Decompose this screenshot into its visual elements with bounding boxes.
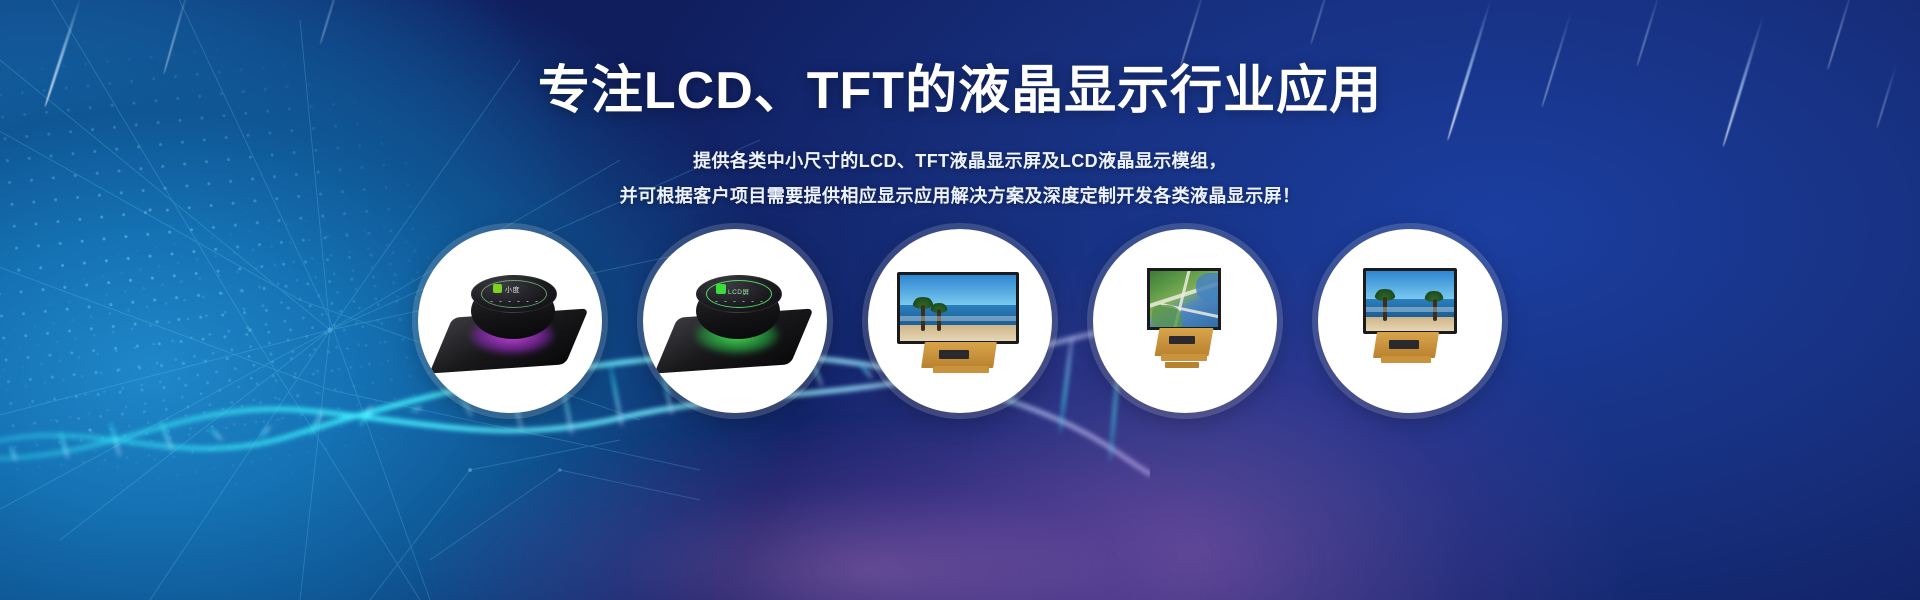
product-circle-tft-display-beach[interactable] (1318, 229, 1502, 413)
meteor-streak-4 (1179, 0, 1207, 68)
product-showcase-row: 小度 LCD屏 (0, 228, 1920, 414)
smart-speaker-green-image: LCD屏 (660, 261, 810, 381)
tft-display-beach-image (1347, 262, 1473, 380)
tft-display-wide-image (889, 262, 1031, 380)
meteor-streak-3 (319, 0, 343, 45)
smart-speaker-purple-image: 小度 (435, 261, 585, 381)
product-circle-smart-speaker-green[interactable]: LCD屏 (643, 229, 827, 413)
product-circle-tft-display-wide[interactable] (868, 229, 1052, 413)
subtitle-line-2: 并可根据客户项目需要提供相应显示应用解决方案及深度定制开发各类液晶显示屏！ (0, 179, 1920, 214)
meteor-streak-10 (1827, 0, 1856, 70)
product-circle-tft-display-map[interactable] (1093, 229, 1277, 413)
meteor-streak-5 (1310, 0, 1332, 45)
page-title: 专注LCD、TFT的液晶显示行业应用 (0, 62, 1920, 122)
bottom-glow-decoration (420, 420, 1320, 600)
product-circle-smart-speaker-purple[interactable]: 小度 (418, 229, 602, 413)
meteor-streak-8 (1636, 0, 1662, 67)
banner-text-block: 专注LCD、TFT的液晶显示行业应用 提供各类中小尺寸的LCD、TFT液晶显示屏… (0, 62, 1920, 214)
smart-speaker-purple-label: 小度 (505, 285, 520, 295)
hero-banner: 专注LCD、TFT的液晶显示行业应用 提供各类中小尺寸的LCD、TFT液晶显示屏… (0, 0, 1920, 600)
tft-display-map-image (1125, 262, 1245, 380)
smart-speaker-green-label: LCD屏 (728, 286, 750, 296)
subtitle-line-1: 提供各类中小尺寸的LCD、TFT液晶显示屏及LCD液晶显示模组， (0, 144, 1920, 179)
